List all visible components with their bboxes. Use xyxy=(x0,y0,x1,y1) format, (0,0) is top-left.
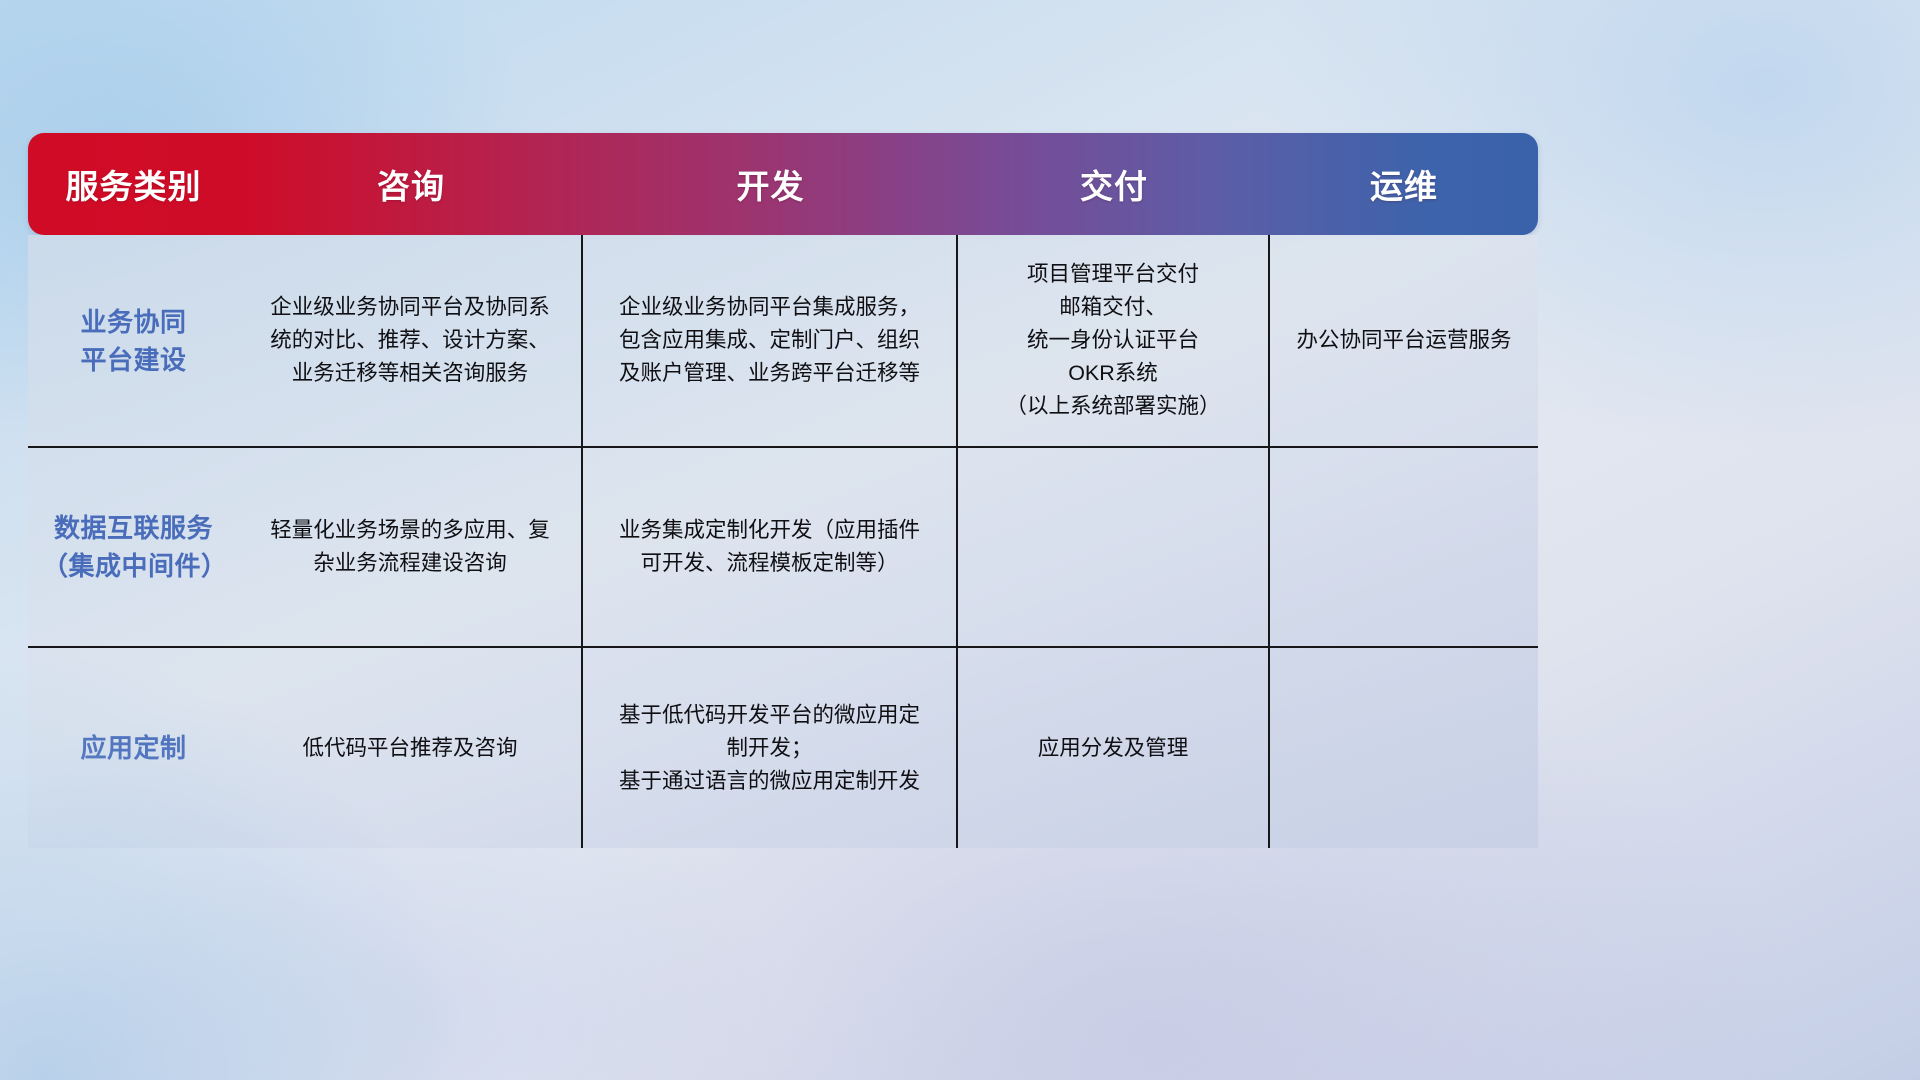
cell-delivery xyxy=(958,448,1270,646)
table-row: 数据互联服务 （集成中间件） 轻量化业务场景的多应用、复 杂业务流程建设咨询 业… xyxy=(28,448,1538,648)
table-row: 应用定制 低代码平台推荐及咨询 基于低代码开发平台的微应用定 制开发； 基于通过… xyxy=(28,648,1538,848)
column-header-delivery: 交付 xyxy=(958,160,1270,208)
column-header-operations: 运维 xyxy=(1270,160,1538,208)
cell-operations xyxy=(1270,648,1538,848)
service-matrix-table: 服务类别 咨询 开发 交付 运维 业务协同 平台建设 企业级业务协同平台及协同系… xyxy=(28,133,1538,848)
table-body: 业务协同 平台建设 企业级业务协同平台及协同系 统的对比、推荐、设计方案、 业务… xyxy=(28,235,1538,848)
cell-development: 企业级业务协同平台集成服务， 包含应用集成、定制门户、组织 及账户管理、业务跨平… xyxy=(583,235,958,446)
cell-operations: 办公协同平台运营服务 xyxy=(1270,235,1538,446)
row-category-label: 应用定制 xyxy=(28,648,239,848)
cell-development: 基于低代码开发平台的微应用定 制开发； 基于通过语言的微应用定制开发 xyxy=(583,648,958,848)
row-category-label: 数据互联服务 （集成中间件） xyxy=(28,448,239,646)
column-header-development: 开发 xyxy=(583,160,958,208)
table-header-row: 服务类别 咨询 开发 交付 运维 xyxy=(28,133,1538,235)
cell-operations xyxy=(1270,448,1538,646)
column-header-consulting: 咨询 xyxy=(239,160,583,208)
table-row: 业务协同 平台建设 企业级业务协同平台及协同系 统的对比、推荐、设计方案、 业务… xyxy=(28,235,1538,448)
slide-canvas: 服务类别 咨询 开发 交付 运维 业务协同 平台建设 企业级业务协同平台及协同系… xyxy=(0,0,1920,1080)
cell-consulting: 低代码平台推荐及咨询 xyxy=(239,648,583,848)
column-header-category: 服务类别 xyxy=(28,160,239,208)
cell-development: 业务集成定制化开发（应用插件 可开发、流程模板定制等） xyxy=(583,448,958,646)
cell-consulting: 轻量化业务场景的多应用、复 杂业务流程建设咨询 xyxy=(239,448,583,646)
cell-consulting: 企业级业务协同平台及协同系 统的对比、推荐、设计方案、 业务迁移等相关咨询服务 xyxy=(239,235,583,446)
cell-delivery: 项目管理平台交付 邮箱交付、 统一身份认证平台 OKR系统 （以上系统部署实施） xyxy=(958,235,1270,446)
row-category-label: 业务协同 平台建设 xyxy=(28,235,239,446)
cell-delivery: 应用分发及管理 xyxy=(958,648,1270,848)
